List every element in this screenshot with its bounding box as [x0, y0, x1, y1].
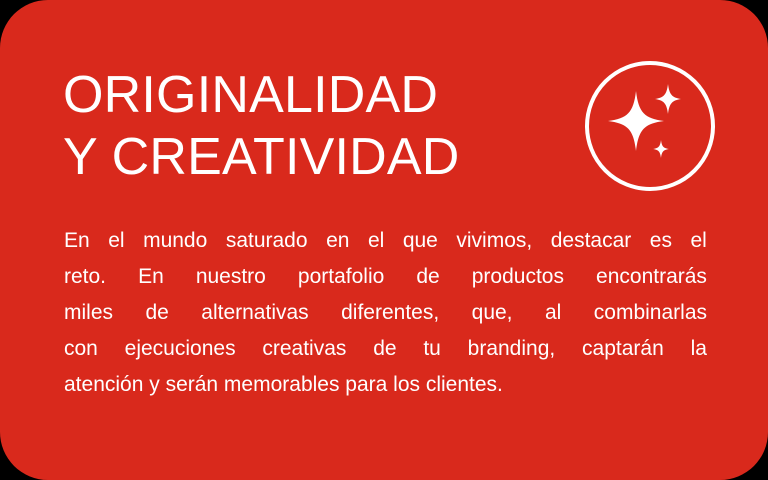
body-line: conejecucionescreativasdetubranding,capt… [64, 331, 707, 367]
body-line-text: milesdealternativasdiferentes,que,alcomb… [64, 295, 707, 331]
body-line-text: reto.Ennuestroportafoliodeproductosencon… [64, 259, 707, 295]
card-heading: ORIGINALIDAD Y CREATIVIDAD [63, 64, 563, 188]
body-line: Enelmundosaturadoenelquevivimos,destacar… [64, 223, 707, 259]
card-body-text: Enelmundosaturadoenelquevivimos,destacar… [64, 223, 707, 403]
body-line-text: atención y serán memorables para los cli… [64, 367, 503, 403]
body-line: milesdealternativasdiferentes,que,alcomb… [64, 295, 707, 331]
sparkle-star-large-icon [608, 91, 664, 151]
heading-line-2: Y CREATIVIDAD [63, 126, 563, 188]
sparkle-star-small-icon [653, 140, 669, 158]
body-line-text: Enelmundosaturadoenelquevivimos,destacar… [64, 223, 707, 259]
body-line-text: conejecucionescreativasdetubranding,capt… [64, 331, 707, 367]
heading-line-1: ORIGINALIDAD [63, 64, 563, 126]
icon-circle-outline [587, 63, 713, 189]
sparkle-star-medium-icon [655, 84, 681, 114]
body-line: atención y serán memorables para los cli… [64, 367, 707, 403]
sparkles-in-circle-icon [584, 60, 716, 192]
feature-card: ORIGINALIDAD Y CREATIVIDAD Enelmundosatu… [0, 0, 768, 480]
body-line: reto.Ennuestroportafoliodeproductosencon… [64, 259, 707, 295]
